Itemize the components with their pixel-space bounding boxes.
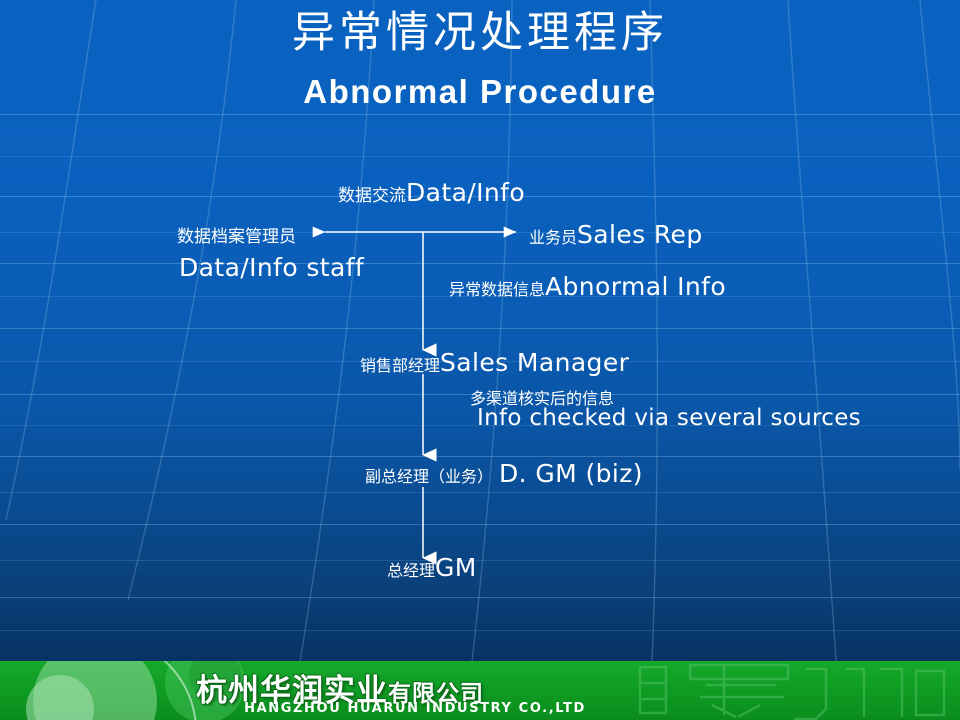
node-sales-manager-cn: 销售部经理 <box>360 356 440 375</box>
edge-label-info-checked-en: Info checked via several sources <box>477 405 861 431</box>
node-data-info-staff-cn: 数据档案管理员 <box>177 222 296 247</box>
node-gm: 总经理GM <box>387 553 477 582</box>
node-deputy-gm-biz-cn: 副总经理（业务） <box>365 467 493 486</box>
edge-label-data-info: 数据交流Data/Info <box>338 178 525 207</box>
background-gridline <box>0 597 960 598</box>
node-sales-rep-en: Sales Rep <box>577 220 703 249</box>
node-deputy-gm-biz-en: D. GM (biz) <box>499 459 643 488</box>
presentation-slide: 异常情况处理程序 Abnormal Procedure 数据交流 <box>0 0 960 720</box>
page-title-cn: 异常情况处理程序 <box>0 8 960 58</box>
node-sales-rep: 业务员Sales Rep <box>529 220 703 249</box>
company-name-en: HANGZHOU HUARUN INDUSTRY CO.,LTD <box>200 701 630 716</box>
node-sales-manager: 销售部经理Sales Manager <box>360 348 629 377</box>
background-gridline <box>0 630 960 631</box>
node-gm-cn: 总经理 <box>387 561 435 580</box>
background-gridline <box>0 263 960 264</box>
edge-label-data-info-en: Data/Info <box>406 178 525 207</box>
background-gridline <box>0 156 960 157</box>
node-sales-manager-en: Sales Manager <box>440 348 629 377</box>
background-gridline <box>0 114 960 115</box>
node-gm-en: GM <box>435 553 477 582</box>
node-deputy-gm-biz: 副总经理（业务）D. GM (biz) <box>365 459 643 488</box>
edge-label-data-info-cn: 数据交流 <box>338 186 406 206</box>
background-gridline <box>0 328 960 329</box>
background-gridline <box>0 492 960 493</box>
edge-label-abnormal-info-en: Abnormal Info <box>545 272 726 301</box>
background-gridline <box>0 456 960 457</box>
page-title-en: Abnormal Procedure <box>0 72 960 112</box>
background-gridline <box>0 232 960 233</box>
node-sales-rep-cn: 业务员 <box>529 228 577 247</box>
background-gridline <box>0 524 960 525</box>
edge-label-abnormal-info-cn: 异常数据信息 <box>449 280 545 299</box>
footer-logo-bar: 杭州华润实业有限公司 HANGZHOU HUARUN INDUSTRY CO.,… <box>0 661 960 720</box>
node-data-info-staff-en: Data/Info staff <box>179 253 364 282</box>
edge-label-abnormal-info: 异常数据信息Abnormal Info <box>449 272 726 301</box>
background-gridline <box>0 560 960 561</box>
